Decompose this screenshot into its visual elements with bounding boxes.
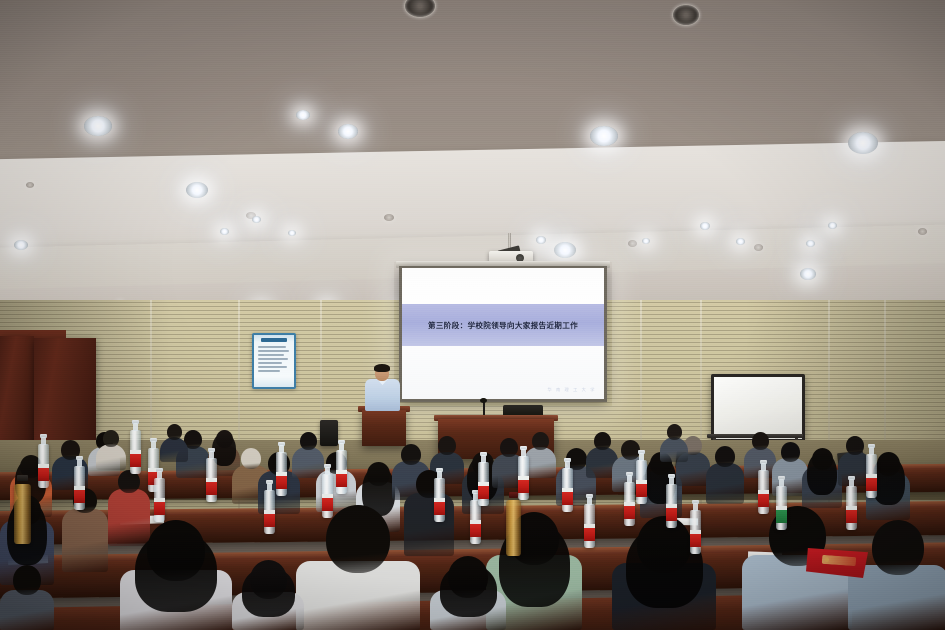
bottle-neck (339, 443, 344, 451)
bottle-label (130, 454, 141, 467)
audience-member (296, 505, 420, 630)
audience-member-torso (660, 437, 688, 462)
audience-member (404, 470, 454, 556)
downlight-b2 (186, 182, 208, 198)
water-bottle (758, 470, 769, 514)
audience-member-torso (160, 437, 188, 462)
audience-member-head (752, 432, 769, 450)
audience-member-torso (96, 444, 126, 470)
downlight-b4 (384, 214, 394, 221)
notice-line (258, 362, 282, 364)
water-bottle (478, 462, 489, 506)
bottle-neck (77, 459, 82, 467)
bottle-neck (209, 451, 214, 459)
audience-member-head (103, 430, 119, 447)
bottle-label (74, 490, 85, 503)
audience-member-head (401, 444, 421, 465)
audience-member-head (326, 505, 390, 573)
audience-member (120, 520, 232, 630)
downlight-b5 (554, 242, 576, 258)
bottle-neck (157, 471, 162, 479)
audience-member (660, 424, 688, 462)
bottle-label (666, 508, 677, 521)
bottle-neck (669, 477, 674, 485)
bottle-neck (761, 463, 766, 471)
bottle-label (846, 510, 857, 523)
audience-member-torso (0, 590, 54, 630)
bottle-neck (521, 449, 526, 457)
speaker-podium (362, 410, 406, 446)
audience-member-torso (706, 463, 744, 504)
bottle-neck (267, 483, 272, 491)
water-bottle (624, 482, 635, 526)
bottle-neck (279, 445, 284, 453)
bottle-neck (481, 455, 486, 463)
water-bottle (690, 510, 701, 554)
downlight-a1 (84, 116, 112, 136)
downlight-b9 (918, 228, 927, 235)
water-bottle (38, 444, 49, 488)
downlight-c7 (536, 236, 546, 244)
water-bottle (206, 458, 217, 502)
wall-notice-board (252, 333, 296, 389)
bottle-label (154, 502, 165, 515)
downlight-b1 (14, 240, 28, 250)
audience-member-head (781, 442, 800, 462)
water-bottle (776, 486, 787, 530)
water-bottle (518, 456, 529, 500)
audience-member (706, 446, 744, 504)
downlight-a4 (848, 132, 878, 154)
desk-microphone (480, 398, 487, 403)
bottle-label (206, 482, 217, 495)
notice-line (258, 346, 286, 348)
bottle-neck (587, 497, 592, 505)
audience-member-head (13, 565, 41, 595)
audience-member (62, 488, 108, 572)
bottle-neck (639, 453, 644, 461)
water-bottle (666, 484, 677, 528)
downlight-b7 (754, 244, 763, 251)
audience-member-head (167, 424, 182, 440)
water-bottle (264, 490, 275, 534)
bottle-label (518, 480, 529, 493)
downlight-a3 (590, 126, 618, 146)
bottle-label (624, 506, 635, 519)
tea-bottle (506, 500, 521, 556)
audience-member-head (438, 436, 456, 455)
audience-member-head (667, 424, 682, 440)
audience-member-head (532, 432, 549, 450)
notice-line (258, 358, 288, 360)
audience-member (430, 556, 506, 630)
downlight-c13 (220, 228, 229, 235)
audience-member-head (715, 446, 735, 467)
audience-member-torso (62, 509, 108, 572)
slide-watermark: 华 南 理 工 大 学 (547, 387, 596, 393)
downlight-c15 (288, 230, 296, 236)
downlight-dark-2 (672, 4, 700, 26)
bottle-label (336, 474, 347, 487)
slide-title-text: 第三阶段：学校院领导向大家报告近期工作 (428, 320, 578, 331)
downlight-a5 (296, 110, 310, 120)
water-bottle (636, 460, 647, 504)
notice-line (258, 350, 289, 352)
bottle-neck (779, 479, 784, 487)
audience-member-head (300, 432, 317, 450)
bottle-label (866, 478, 877, 491)
notice-line (258, 370, 280, 372)
water-bottle (130, 430, 141, 474)
water-bottle (562, 468, 573, 512)
side-door-left-leaf[interactable] (0, 336, 34, 456)
audience-member (0, 565, 54, 630)
bottle-neck (133, 423, 138, 431)
bottle-neck (151, 441, 156, 449)
desk-microphone-stem (483, 401, 485, 416)
bottle-label (434, 502, 445, 515)
bottle-label (322, 498, 333, 511)
conference-hall-photo: 第三阶段：学校院领导向大家报告近期工作 华 南 理 工 大 学 (0, 0, 945, 630)
audience-member (232, 560, 304, 630)
thermos-cap (17, 475, 28, 481)
downlight-c14 (252, 216, 261, 223)
audience-member-head (846, 436, 864, 455)
water-bottle (154, 478, 165, 522)
bottle-label (478, 486, 489, 499)
slide-title-band: 第三阶段：学校院领导向大家报告近期工作 (402, 304, 604, 346)
audience-member-long-hair (807, 452, 837, 495)
bottle-neck (325, 467, 330, 475)
bottle-neck (869, 447, 874, 455)
downlight-c10 (736, 238, 745, 245)
water-bottle (336, 450, 347, 494)
downlight-c12 (828, 222, 837, 229)
bottle-label (470, 524, 481, 537)
notice-header-bar (261, 338, 287, 342)
bottle-label (776, 510, 787, 523)
bottle-neck (693, 503, 698, 511)
bottle-label (38, 468, 49, 481)
audience-member-long-hair (242, 567, 295, 617)
notice-line (258, 366, 287, 368)
audience-member-head (594, 432, 611, 450)
audience-member-head (872, 520, 924, 575)
water-bottle (322, 474, 333, 518)
bottle-label (636, 484, 647, 497)
bottle-neck (627, 475, 632, 483)
bottle-label (276, 476, 287, 489)
bottle-label (758, 494, 769, 507)
bottle-neck (565, 461, 570, 469)
water-bottle (866, 454, 877, 498)
audience-member-head (500, 438, 518, 457)
bottle-label (562, 492, 573, 505)
audience-member (802, 448, 842, 508)
downlight-b8 (800, 268, 816, 280)
audience-member (160, 424, 188, 462)
bottle-neck (437, 471, 442, 479)
downlight-c9 (700, 222, 710, 230)
audience-member-long-hair (440, 564, 497, 617)
audience-member-torso (404, 493, 454, 556)
bottle-neck (849, 479, 854, 487)
water-bottle (74, 466, 85, 510)
water-bottle (434, 478, 445, 522)
bottle-label (584, 528, 595, 541)
water-bottle (276, 452, 287, 496)
downlight-c16 (642, 238, 650, 244)
bottle-label (264, 514, 275, 527)
projection-screen: 第三阶段：学校院领导向大家报告近期工作 华 南 理 工 大 学 (402, 268, 604, 399)
downlight-dim-1 (26, 182, 34, 188)
water-bottle (470, 500, 481, 544)
downlight-a2 (338, 124, 358, 139)
water-bottle (584, 504, 595, 548)
thermos-bottle (14, 484, 31, 544)
notice-line (258, 354, 284, 356)
bottle-label (690, 534, 701, 547)
downlight-b6 (628, 240, 637, 247)
downlight-c11 (806, 240, 815, 247)
audience-member (96, 430, 126, 470)
tea-bottle-cap (509, 492, 518, 498)
water-bottle (846, 486, 857, 530)
bottle-neck (41, 437, 46, 445)
audience-member-long-hair (135, 531, 217, 612)
presenter-hair (374, 364, 390, 372)
